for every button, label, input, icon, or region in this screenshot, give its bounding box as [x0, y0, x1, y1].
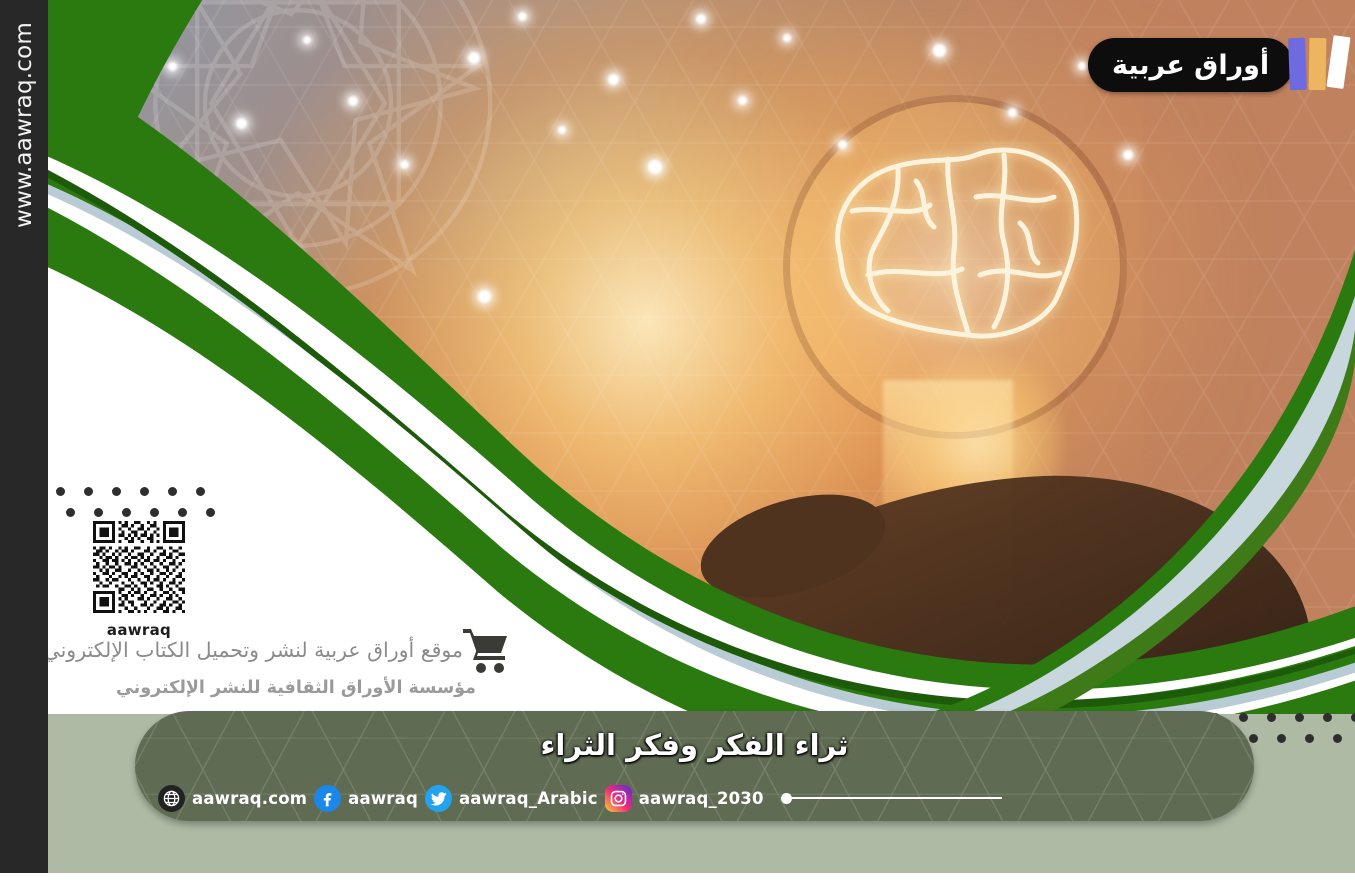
instagram-icon — [605, 785, 632, 812]
website-url-text: www.aawraq.com — [11, 22, 37, 228]
social-handle-instagram: aawraq_2030 — [639, 789, 764, 808]
facebook-icon — [314, 785, 341, 812]
qr-block: aawraq — [89, 519, 189, 639]
brand-logo[interactable]: أوراق عربية — [1088, 38, 1351, 92]
page-bottom-margin — [48, 873, 1355, 891]
social-links: aawraq.com aawraq — [158, 781, 1002, 815]
social-item-twitter[interactable]: aawraq_Arabic — [425, 785, 598, 812]
website-vertical-label: www.aawraq.com — [0, 0, 48, 873]
book-cover-page: www.aawraq.com — [0, 0, 1355, 891]
social-handle-website: aawraq.com — [192, 789, 307, 808]
footer-rule — [781, 793, 1002, 804]
twitter-icon — [425, 785, 452, 812]
qr-label: aawraq — [89, 621, 189, 639]
tagline-primary: موقع أوراق عربية لنشر وتحميل الكتاب الإل… — [48, 638, 463, 662]
left-side-rail: www.aawraq.com — [0, 0, 48, 873]
shopping-cart-icon[interactable] — [461, 623, 513, 675]
tagline-secondary: مؤسسة الأوراق الثقافية للنشر الإلكتروني — [48, 678, 476, 698]
hero-image — [48, 0, 1355, 700]
social-item-facebook[interactable]: aawraq — [314, 785, 418, 812]
globe-icon — [158, 785, 185, 812]
footer-rule-dot — [781, 793, 792, 804]
qr-code-icon[interactable] — [91, 519, 187, 615]
cover-artboard: aawraq موقع أوراق عربية لنشر وتحميل الكت… — [48, 0, 1355, 873]
social-item-instagram[interactable]: aawraq_2030 — [605, 785, 764, 812]
books-icon — [1287, 34, 1351, 96]
cover-title: ثراء الفكر وفكر الثراء — [135, 728, 1254, 762]
footer-rule-line — [792, 797, 1002, 799]
brand-name-pill: أوراق عربية — [1088, 38, 1293, 92]
footer-bar: ثراء الفكر وفكر الثراء aawraq.com — [135, 711, 1254, 821]
social-handle-facebook: aawraq — [348, 789, 418, 808]
social-item-website[interactable]: aawraq.com — [158, 785, 307, 812]
brand-name-text: أوراق عربية — [1112, 50, 1269, 81]
sparkles-group — [48, 0, 1355, 700]
social-handle-twitter: aawraq_Arabic — [459, 789, 598, 808]
